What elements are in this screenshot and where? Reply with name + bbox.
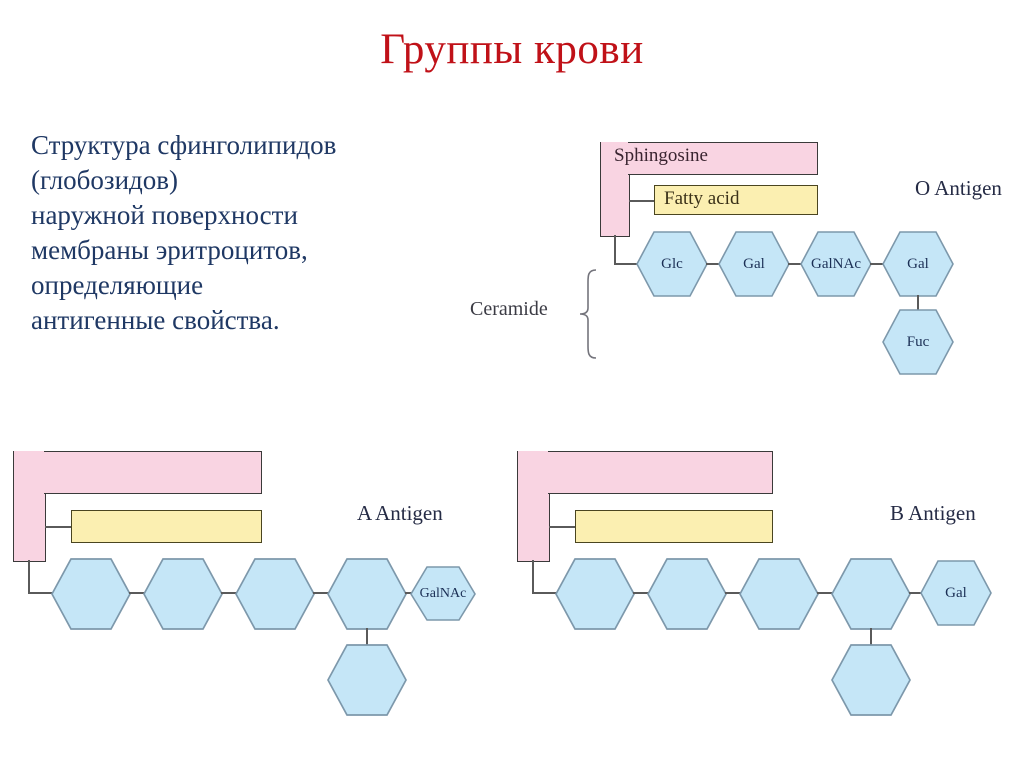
sugar-label xyxy=(831,644,911,716)
body-line: определяющие xyxy=(31,268,431,303)
sugar-label: Fuc xyxy=(882,309,954,375)
sugar-hexagon-branch xyxy=(831,644,911,716)
sugar-label xyxy=(831,558,911,630)
fatty-acid-connector xyxy=(45,526,73,528)
sugar-label xyxy=(555,558,635,630)
sphingosine-bar xyxy=(548,451,773,494)
body-line: антигенные свойства. xyxy=(31,303,431,338)
sugar-label xyxy=(739,558,819,630)
sugar-hexagon-glc: Glc xyxy=(636,231,708,297)
o-antigen-diagram: Ceramide Sphingosine Fatty acid Glc xyxy=(470,130,1024,380)
slide-canvas: Группы крови Структура сфинголипидов (гл… xyxy=(0,0,1024,767)
sugar-label xyxy=(327,558,407,630)
a-antigen-diagram: GalNAc A Antigen xyxy=(8,448,500,716)
sphingosine-label: Sphingosine xyxy=(614,145,708,167)
fatty-acid-label: Fatty acid xyxy=(664,188,739,210)
sugar-label: GalNAc xyxy=(410,566,476,621)
sugar-hexagon-fuc: Fuc xyxy=(882,309,954,375)
sugar-hexagon-gal: Gal xyxy=(920,560,992,626)
sugar-label xyxy=(51,558,131,630)
page-title: Группы крови xyxy=(0,26,1024,73)
body-line: Структура сфинголипидов xyxy=(31,128,431,163)
sugar-hexagon-1 xyxy=(555,558,635,630)
sphingosine-backbone-vertical xyxy=(517,451,550,562)
sugar-hexagon-3 xyxy=(739,558,819,630)
sugar-hexagon-1 xyxy=(51,558,131,630)
sugar-label xyxy=(647,558,727,630)
ceramide-brace-icon xyxy=(578,268,600,360)
sugar-label xyxy=(327,644,407,716)
fatty-acid-connector xyxy=(549,526,577,528)
body-line: мембраны эритроцитов, xyxy=(31,233,431,268)
sugar-hexagon-gal-2: Gal xyxy=(882,231,954,297)
sugar-hexagon-galnac: GalNAc xyxy=(800,231,872,297)
body-paragraph: Структура сфинголипидов (глобозидов) нар… xyxy=(31,128,431,338)
sugar-hexagon-gal-1: Gal xyxy=(718,231,790,297)
sugar-hexagon-3 xyxy=(235,558,315,630)
ceramide-to-sugar-vertical-connector xyxy=(28,560,30,593)
antigen-name-label: A Antigen xyxy=(357,501,443,526)
body-line: (глобозидов) xyxy=(31,163,431,198)
sugar-label: Gal xyxy=(882,231,954,297)
ceramide-label: Ceramide xyxy=(470,298,548,321)
ceramide-to-sugar-vertical-connector xyxy=(532,560,534,593)
sphingosine-backbone-vertical xyxy=(13,451,46,562)
body-line: наружной поверхности xyxy=(31,198,431,233)
sugar-label xyxy=(143,558,223,630)
antigen-name-label: O Antigen xyxy=(915,176,1002,201)
sugar-label: Glc xyxy=(636,231,708,297)
b-antigen-diagram: Gal B Antigen xyxy=(512,448,1024,716)
fatty-acid-connector xyxy=(629,200,655,202)
sugar-hexagon-galnac: GalNAc xyxy=(410,566,476,621)
fatty-acid-box xyxy=(71,510,262,543)
sugar-hexagon-4 xyxy=(327,558,407,630)
fatty-acid-box xyxy=(575,510,773,543)
ceramide-to-sugar-vertical-connector xyxy=(614,235,616,264)
sphingosine-bar xyxy=(44,451,262,494)
sugar-hexagon-branch xyxy=(327,644,407,716)
sugar-label: Gal xyxy=(718,231,790,297)
sugar-label: Gal xyxy=(920,560,992,626)
sugar-hexagon-2 xyxy=(647,558,727,630)
sugar-hexagon-4 xyxy=(831,558,911,630)
sugar-label xyxy=(235,558,315,630)
antigen-name-label: B Antigen xyxy=(890,501,976,526)
sugar-label: GalNAc xyxy=(800,231,872,297)
sugar-hexagon-2 xyxy=(143,558,223,630)
